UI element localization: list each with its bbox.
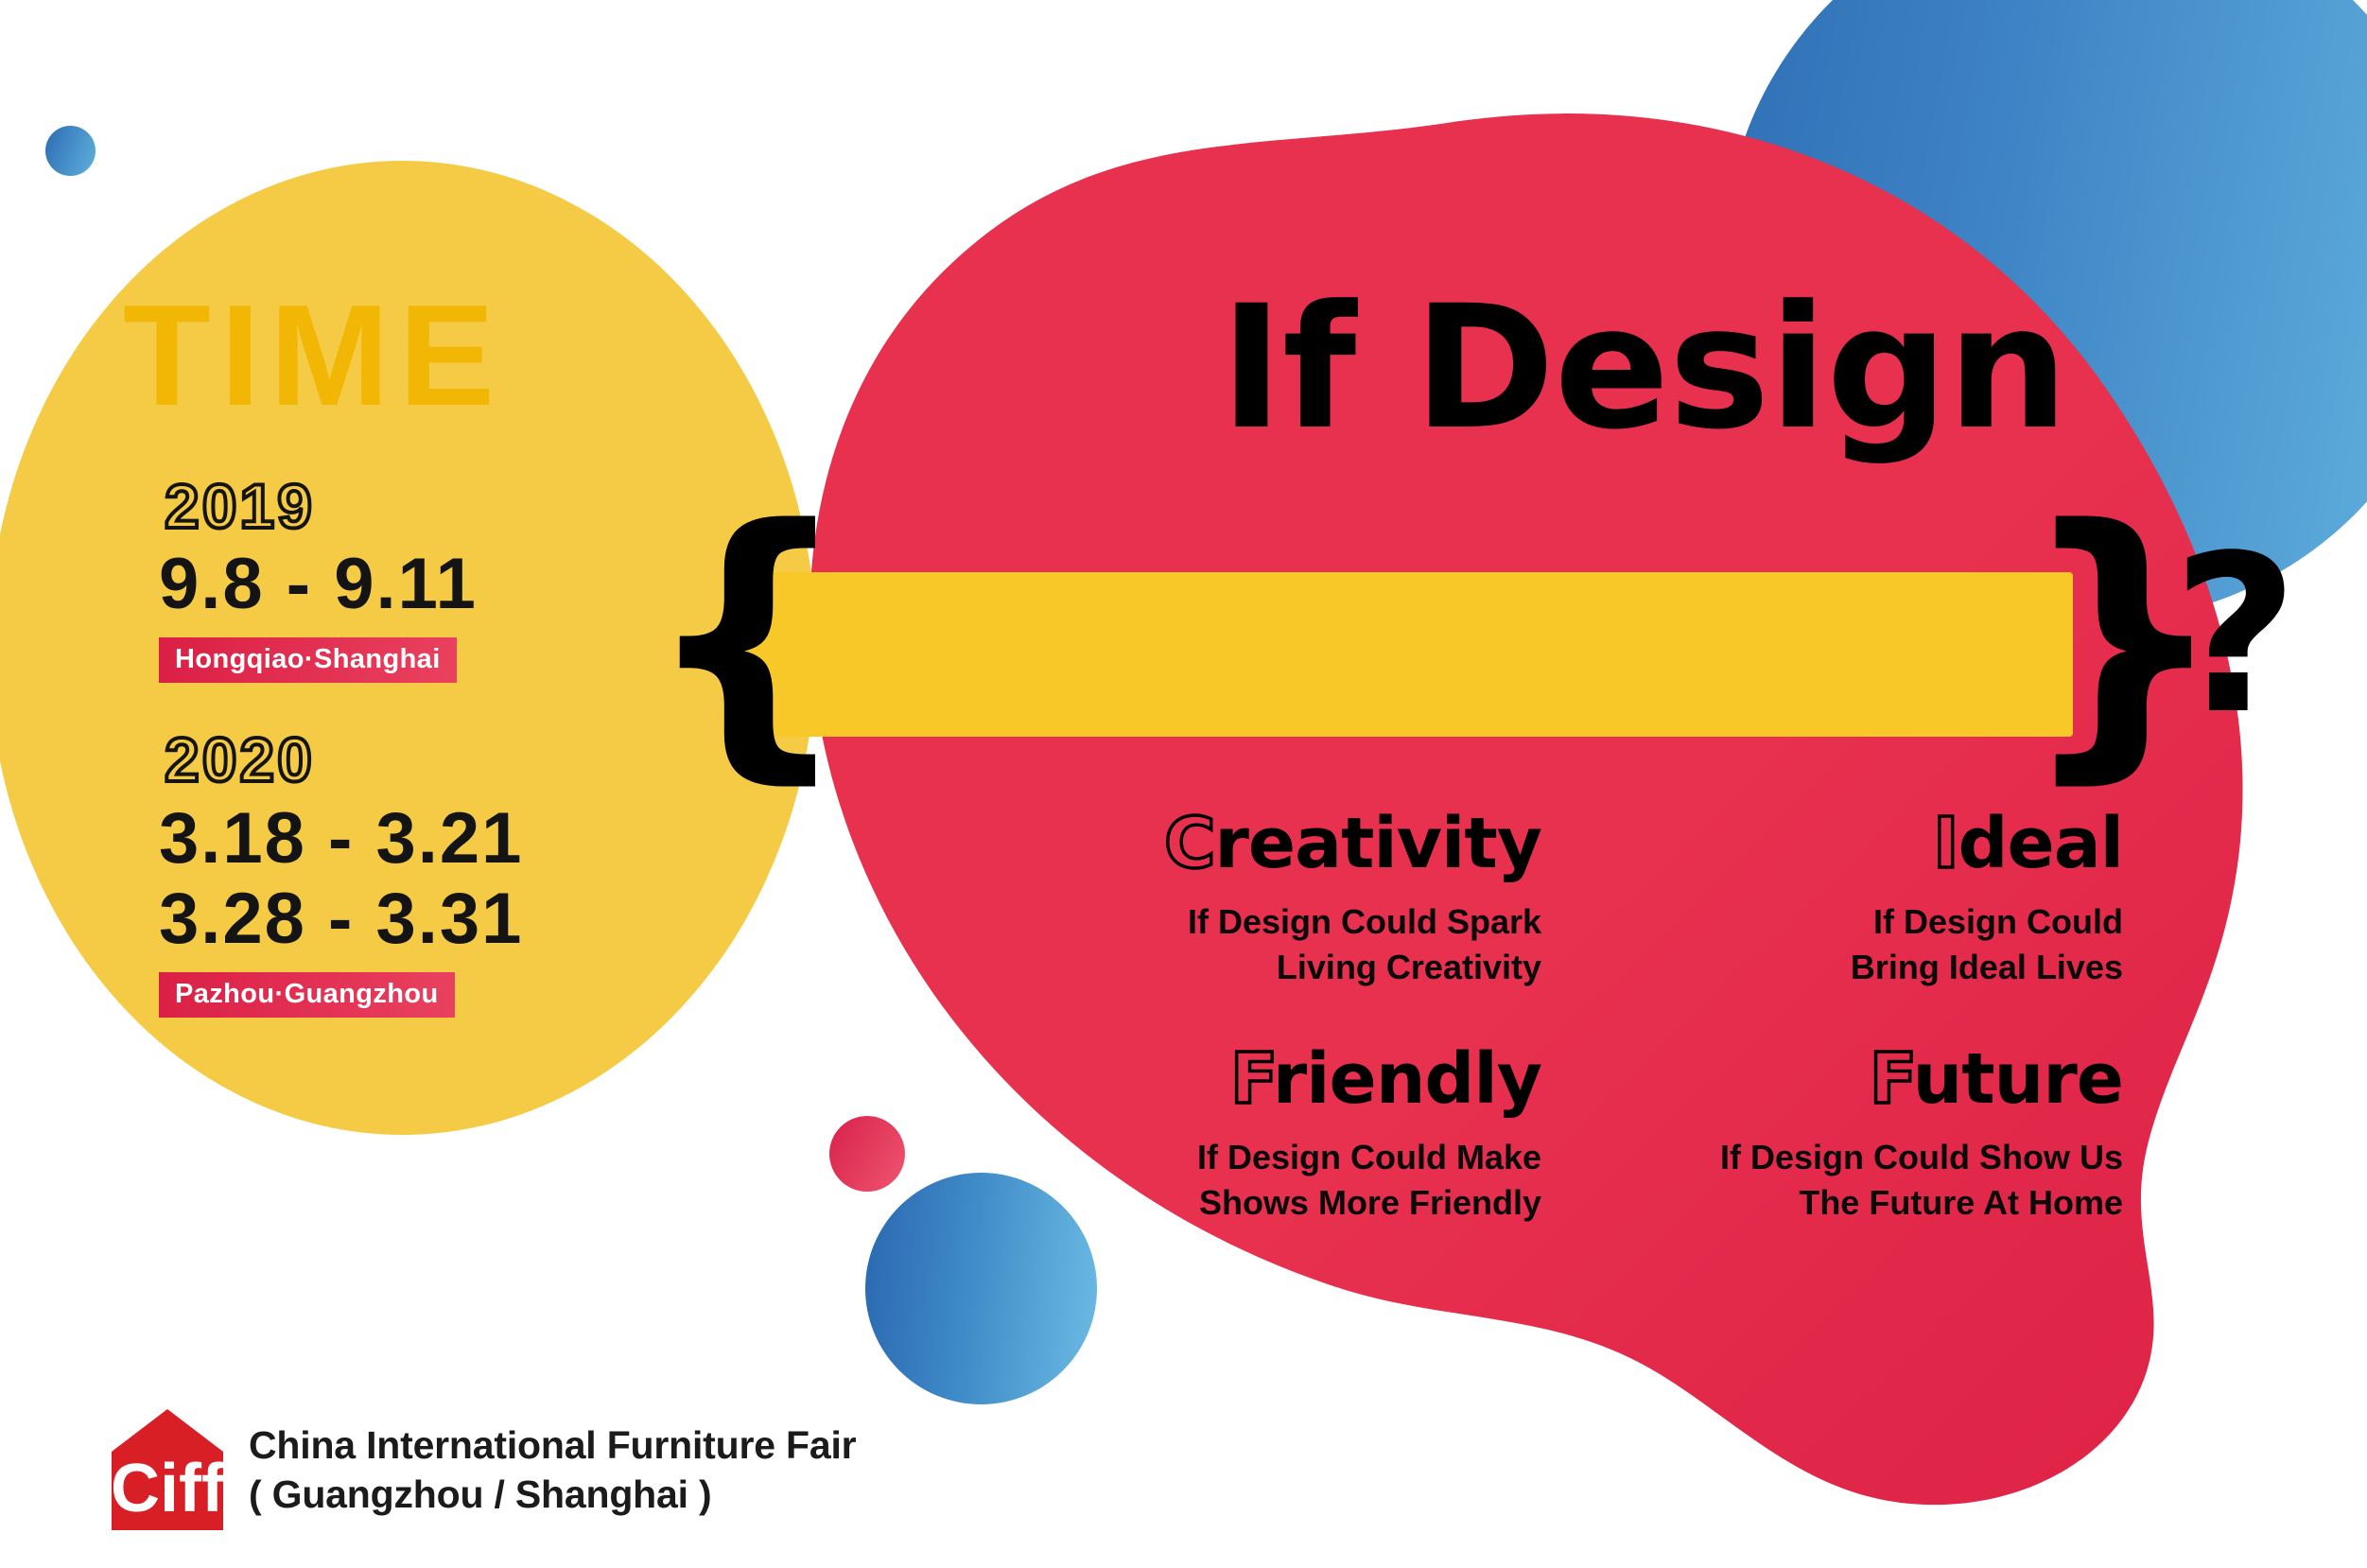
keyword-lead-letter: F xyxy=(1230,1038,1273,1120)
keyword-rest: reativity xyxy=(1214,803,1541,884)
keyword-subtitle-line: The Future At Home xyxy=(1660,1180,2123,1226)
keyword-lead-letter: I xyxy=(1933,803,1958,884)
page-title: If Design xyxy=(1220,284,2067,454)
event-schedule: 2019 9.8 - 9.11 Hongqiao·Shanghai 2020 3… xyxy=(159,473,523,1018)
keyword-subtitle-line: If Design Could Show Us xyxy=(1660,1135,2123,1180)
keyword-card-friendly: Friendly If Design Could Make Shows More… xyxy=(1078,1044,1541,1225)
date-range: 3.28 - 3.31 xyxy=(159,879,523,959)
question-mark-glyph: ? xyxy=(2172,528,2298,745)
keyword-subtitle-line: Living Creativity xyxy=(1078,945,1541,990)
city-badge-shanghai: Hongqiao·Shanghai xyxy=(159,637,457,683)
keyword-lead-letter: F xyxy=(1870,1038,1913,1120)
schedule-entry-2020: 2020 3.18 - 3.21 3.28 - 3.31 Pazhou·Guan… xyxy=(159,726,523,1017)
year-label: 2020 xyxy=(165,726,523,793)
keyword-subtitle-line: If Design Could Make xyxy=(1078,1135,1541,1180)
keyword-title: Creativity xyxy=(1078,809,1541,879)
keyword-rest: deal xyxy=(1958,803,2123,884)
keyword-subtitle-line: Shows More Friendly xyxy=(1078,1180,1541,1226)
keyword-subtitle: If Design Could Show Us The Future At Ho… xyxy=(1660,1135,2123,1225)
date-range: 9.8 - 9.11 xyxy=(159,544,523,624)
keyword-subtitle-line: If Design Could xyxy=(1660,899,2123,945)
keyword-grid: Creativity If Design Could Spark Living … xyxy=(1078,809,2137,1225)
keyword-title: Friendly xyxy=(1078,1044,1541,1114)
keyword-subtitle: If Design Could Make Shows More Friendly xyxy=(1078,1135,1541,1225)
schedule-entry-2019: 2019 9.8 - 9.11 Hongqiao·Shanghai xyxy=(159,473,523,683)
yellow-highlight-bar xyxy=(732,572,2073,737)
blue-circle-bottom xyxy=(865,1173,1097,1404)
keyword-subtitle-line: If Design Could Spark xyxy=(1078,899,1541,945)
keyword-subtitle: If Design Could Spark Living Creativity xyxy=(1078,899,1541,989)
keyword-subtitle: If Design Could Bring Ideal Lives xyxy=(1660,899,2123,989)
ciff-text-block: China International Furniture Fair ( Gua… xyxy=(249,1420,856,1520)
year-label: 2019 xyxy=(165,473,523,540)
poster-canvas: TIME 2019 9.8 - 9.11 Hongqiao·Shanghai 2… xyxy=(0,0,2367,1568)
keyword-rest: uture xyxy=(1913,1038,2123,1120)
keyword-card-future: Future If Design Could Show Us The Futur… xyxy=(1660,1044,2123,1225)
keyword-title: Ideal xyxy=(1660,809,2123,879)
ciff-house-icon: Ciff xyxy=(112,1409,223,1530)
keyword-card-ideal: Ideal If Design Could Bring Ideal Lives xyxy=(1660,809,2123,989)
ciff-logo-group: Ciff China International Furniture Fair … xyxy=(112,1409,856,1530)
brace-open-glyph: { xyxy=(643,492,852,785)
organization-name: China International Furniture Fair xyxy=(249,1420,856,1470)
keyword-rest: riendly xyxy=(1273,1038,1541,1120)
svg-text:Ciff: Ciff xyxy=(112,1451,223,1526)
keyword-subtitle-line: Bring Ideal Lives xyxy=(1660,945,2123,990)
organization-locations: ( Guangzhou / Shanghai ) xyxy=(249,1470,856,1519)
keyword-title: Future xyxy=(1660,1044,2123,1114)
time-watermark: TIME xyxy=(123,284,504,427)
brace-bar-group: { } ? xyxy=(643,549,2175,757)
schedule-spacer xyxy=(159,683,523,726)
date-range: 3.18 - 3.21 xyxy=(159,798,523,879)
city-badge-guangzhou: Pazhou·Guangzhou xyxy=(159,972,455,1018)
keyword-lead-letter: C xyxy=(1164,803,1214,884)
keyword-card-creativity: Creativity If Design Could Spark Living … xyxy=(1078,809,1541,989)
blue-dot-decoration xyxy=(45,126,96,176)
